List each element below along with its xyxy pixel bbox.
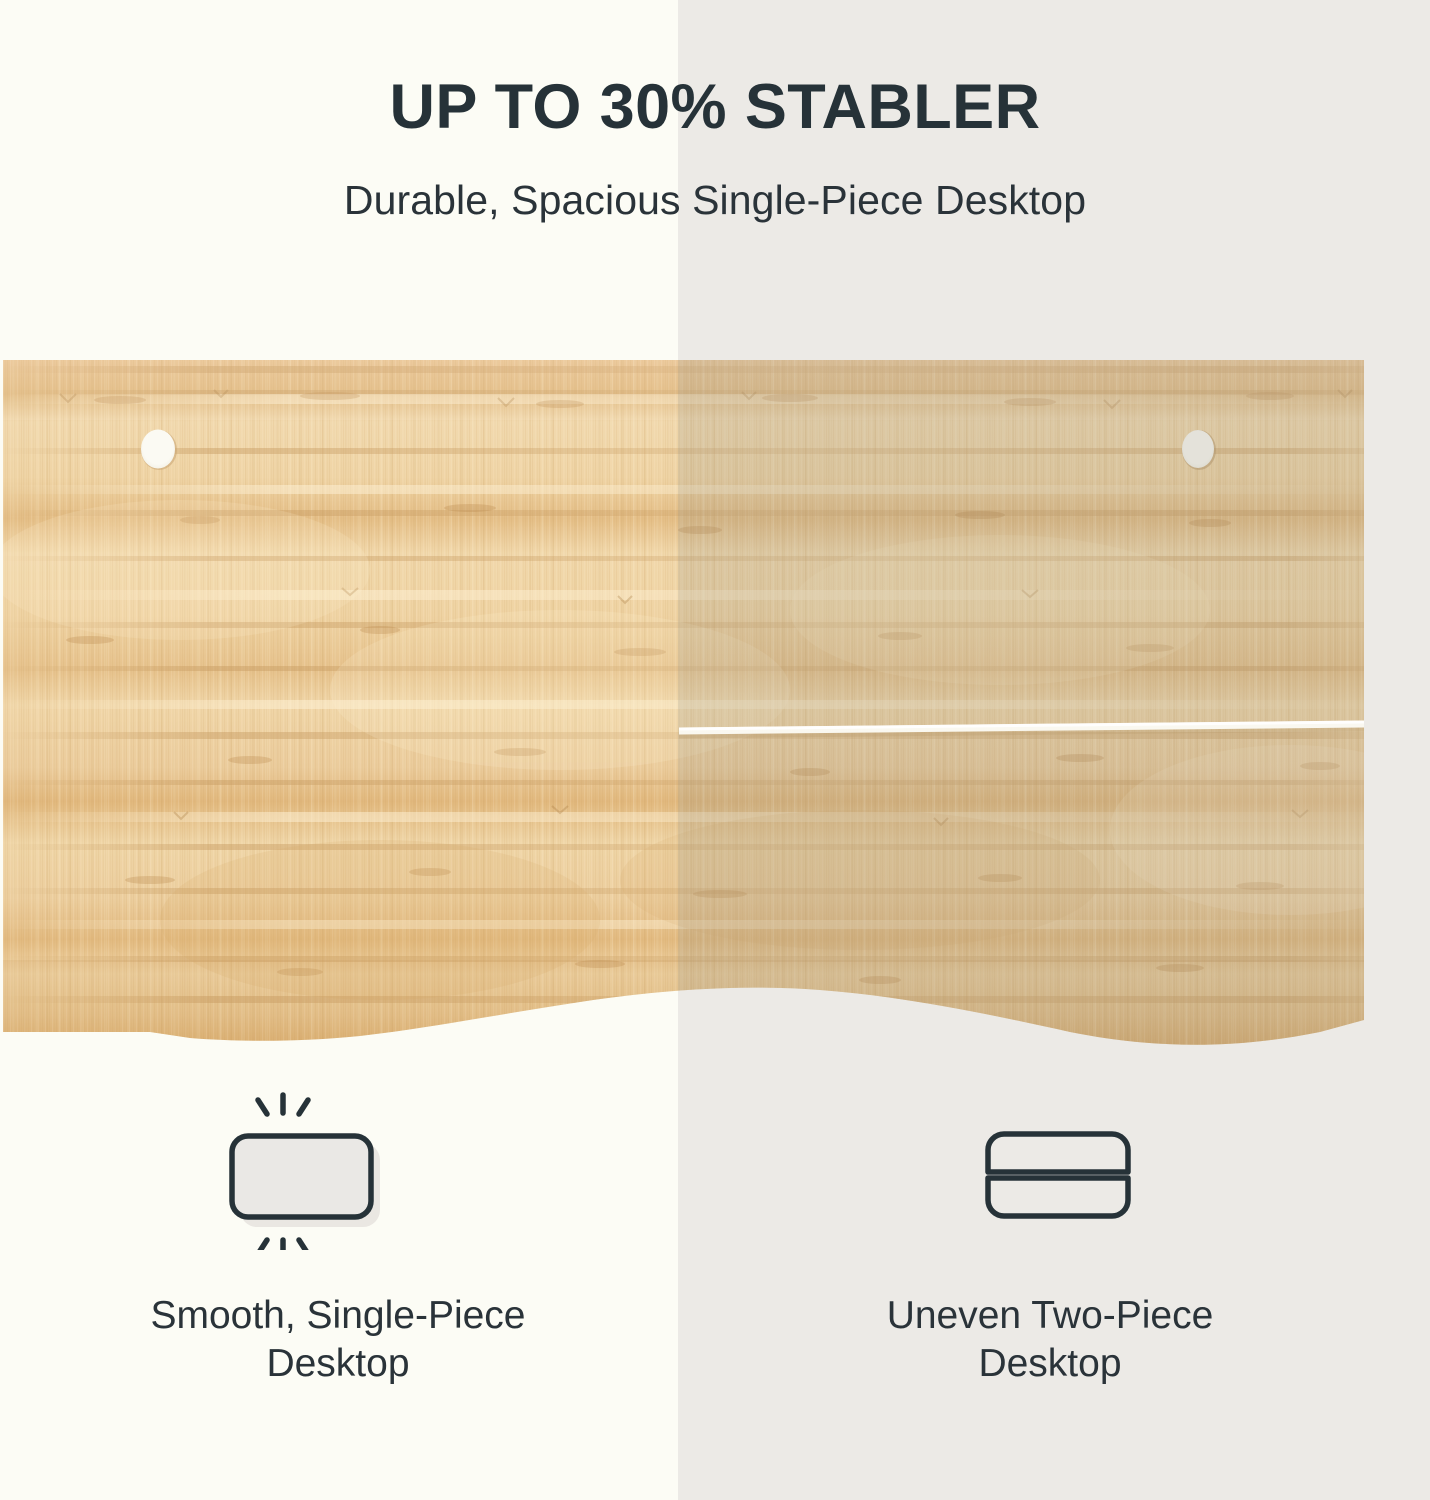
caption-right: Uneven Two-Piece Desktop — [720, 1292, 1380, 1387]
caption-left-line2: Desktop — [18, 1340, 658, 1388]
icon-single-piece-desktop — [195, 1090, 415, 1250]
product-comparison-infographic: UP TO 30% STABLER Durable, Spacious Sing… — [0, 0, 1430, 1500]
caption-right-line2: Desktop — [720, 1340, 1380, 1388]
sparkle-lines-bottom — [258, 1240, 308, 1250]
caption-left: Smooth, Single-Piece Desktop — [18, 1292, 658, 1387]
sparkle-lines-top — [258, 1095, 308, 1114]
two-piece-slab-icon — [945, 1110, 1165, 1240]
slab-bottom-piece — [988, 1178, 1128, 1216]
single-slab-sparkle-icon — [195, 1090, 415, 1250]
right-half-grey-overlay — [678, 360, 1430, 1050]
slab-top-piece — [988, 1134, 1128, 1172]
icon-two-piece-desktop — [945, 1110, 1165, 1270]
desktop-illustration — [0, 360, 1430, 1050]
page-subtitle: Durable, Spacious Single-Piece Desktop — [0, 176, 1430, 225]
caption-right-line1: Uneven Two-Piece — [720, 1292, 1380, 1340]
page-title: UP TO 30% STABLER — [0, 74, 1430, 140]
slab-body — [232, 1136, 371, 1217]
desktop-product-photo — [0, 360, 1430, 1050]
caption-left-line1: Smooth, Single-Piece — [18, 1292, 658, 1340]
